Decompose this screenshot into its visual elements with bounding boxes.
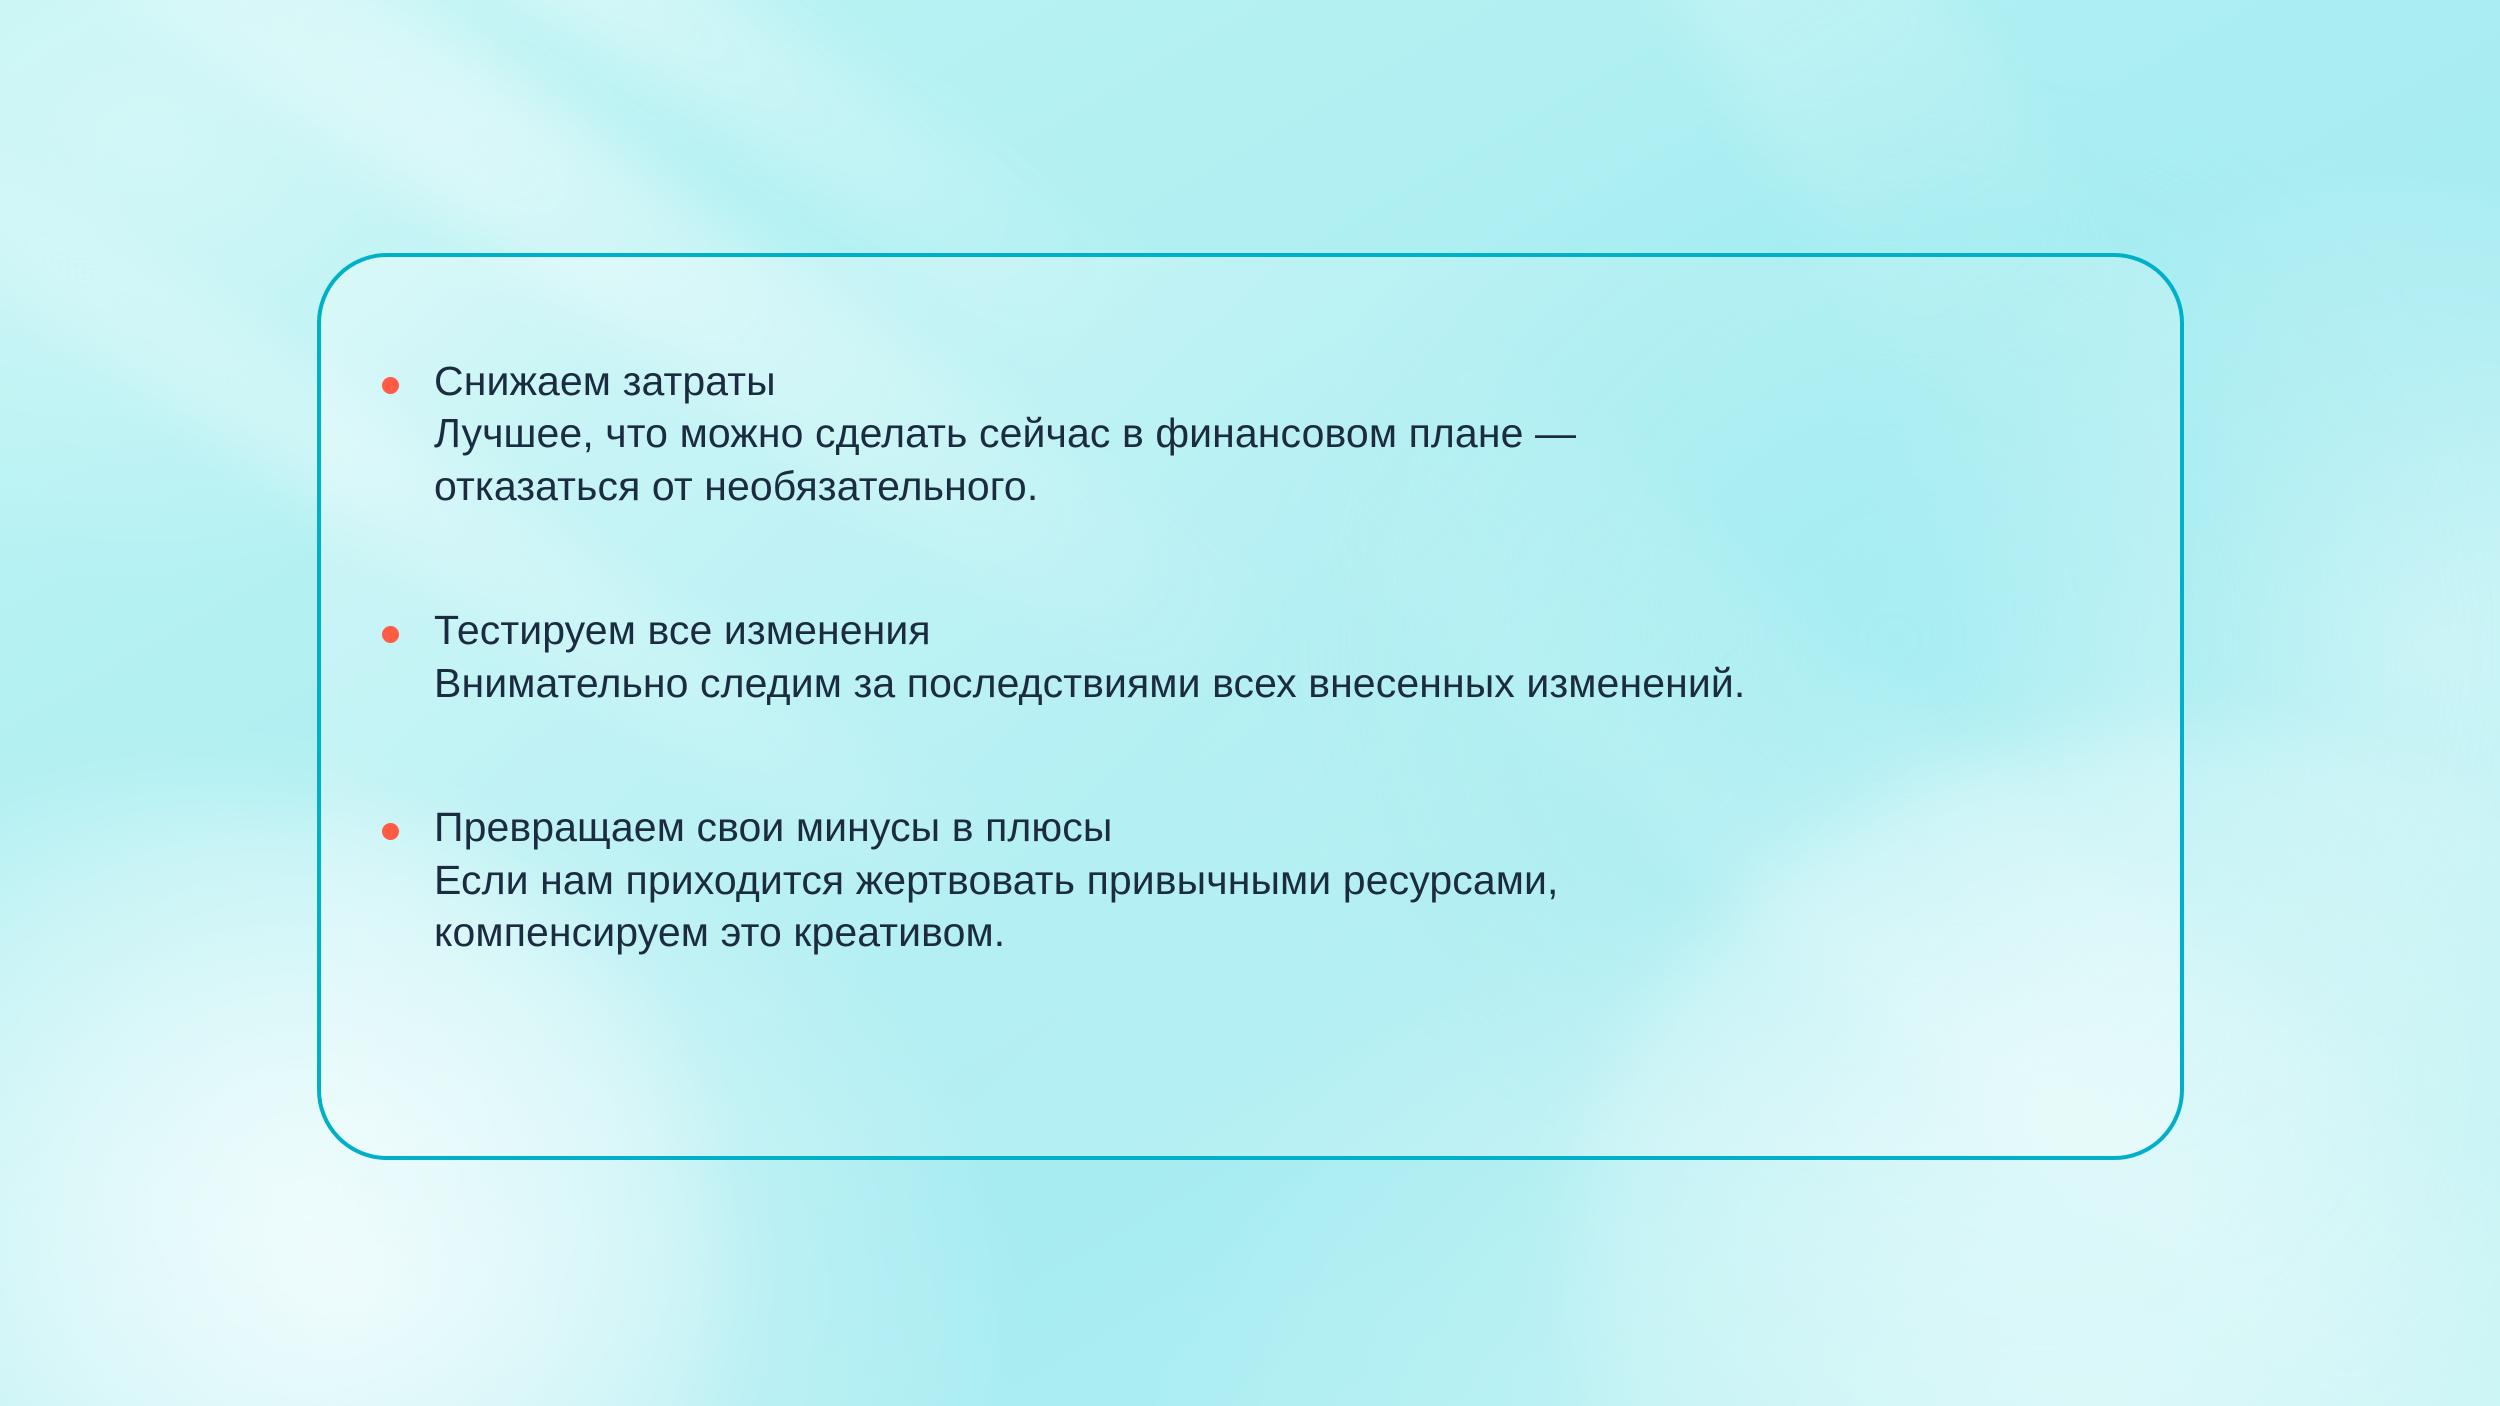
bullet-list: Снижаем затраты Лучшее, что можно сделат… [366, 355, 2140, 959]
bullet-title: Тестируем все изменения [434, 604, 2140, 656]
bullet-body-line: Внимательно следим за последствиями всех… [434, 657, 2140, 709]
list-item: Тестируем все изменения Внимательно след… [366, 604, 2140, 709]
bullet-body-line: Лучшее, что можно сделать сейчас в финан… [434, 407, 2140, 459]
content-card: Снижаем затраты Лучшее, что можно сделат… [317, 253, 2184, 1160]
bullet-dot-icon [382, 377, 399, 394]
list-item: Снижаем затраты Лучшее, что можно сделат… [366, 355, 2140, 512]
bullet-body-line: Если нам приходится жертвовать привычным… [434, 854, 2140, 906]
bullet-body-line: компенсируем это креативом. [434, 906, 2140, 958]
bullet-body-line: отказаться от необязательного. [434, 460, 2140, 512]
bullet-title: Превращаем свои минусы в плюсы [434, 801, 2140, 853]
bullet-dot-icon [382, 626, 399, 643]
slide-canvas: Снижаем затраты Лучшее, что можно сделат… [0, 0, 2500, 1406]
bullet-title: Снижаем затраты [434, 355, 2140, 407]
bullet-dot-icon [382, 823, 399, 840]
list-item: Превращаем свои минусы в плюсы Если нам … [366, 801, 2140, 958]
